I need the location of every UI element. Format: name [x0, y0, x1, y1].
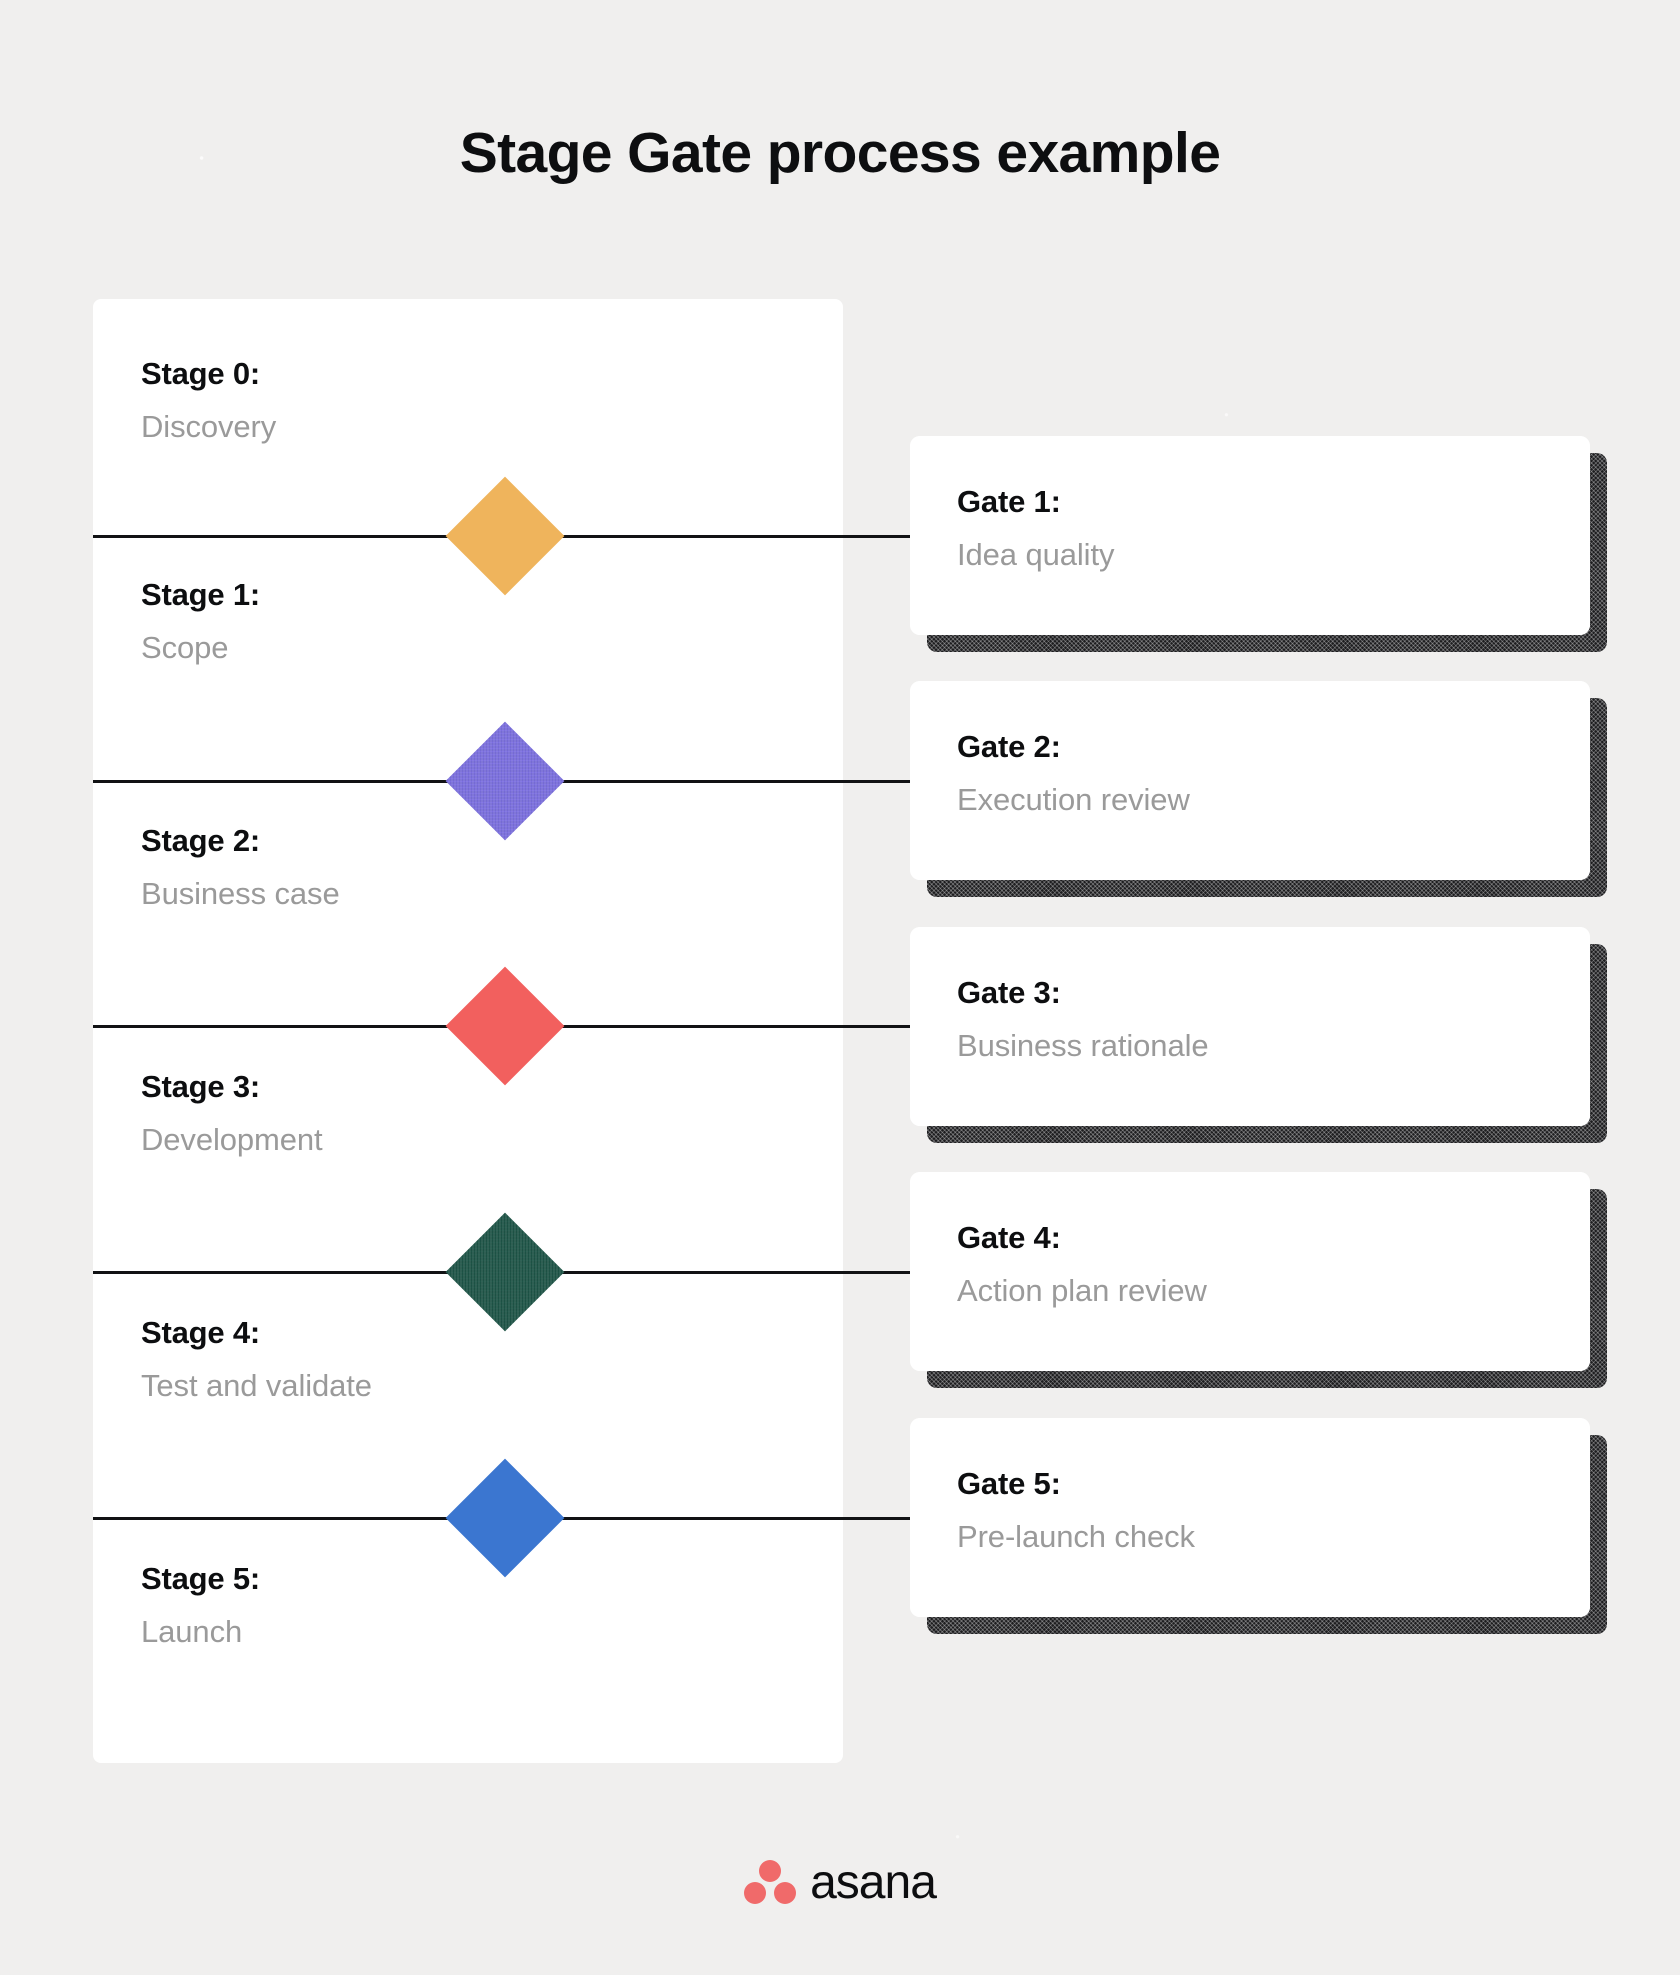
- stage-block-2: Stage 2: Business case: [141, 822, 761, 914]
- stage-title: Stage 4:: [141, 1314, 761, 1353]
- stage-subtitle: Test and validate: [141, 1366, 761, 1406]
- gate-card-inner: Gate 2: Execution review: [910, 681, 1590, 880]
- stage-title: Stage 3:: [141, 1068, 761, 1107]
- gate-card-2[interactable]: Gate 2: Execution review: [910, 681, 1590, 880]
- gate-card-5[interactable]: Gate 5: Pre-launch check: [910, 1418, 1590, 1617]
- stage-title: Stage 1:: [141, 576, 761, 615]
- stage-title: Stage 2:: [141, 822, 761, 861]
- logo-dot-bottom-right: [774, 1882, 796, 1904]
- stage-block-4: Stage 4: Test and validate: [141, 1314, 761, 1406]
- stage-block-3: Stage 3: Development: [141, 1068, 761, 1160]
- gate-subtitle: Idea quality: [957, 535, 1590, 575]
- gate-title: Gate 4:: [957, 1219, 1590, 1258]
- gate-subtitle: Execution review: [957, 780, 1590, 820]
- stage-subtitle: Launch: [141, 1612, 761, 1652]
- asana-wordmark: asana: [810, 1855, 936, 1910]
- asana-dots-logo-icon: [744, 1860, 796, 1906]
- logo-dot-bottom-left: [744, 1882, 766, 1904]
- gate-title: Gate 2:: [957, 728, 1590, 767]
- stage-block-0: Stage 0: Discovery: [141, 355, 761, 447]
- gate-card-1[interactable]: Gate 1: Idea quality: [910, 436, 1590, 635]
- stage-block-1: Stage 1: Scope: [141, 576, 761, 668]
- gate-card-inner: Gate 5: Pre-launch check: [910, 1418, 1590, 1617]
- gate-card-inner: Gate 1: Idea quality: [910, 436, 1590, 635]
- gate-subtitle: Action plan review: [957, 1271, 1590, 1311]
- logo-dot-top: [759, 1860, 781, 1882]
- gate-title: Gate 3:: [957, 974, 1590, 1013]
- stage-subtitle: Development: [141, 1120, 761, 1160]
- gate-card-inner: Gate 4: Action plan review: [910, 1172, 1590, 1371]
- gate-subtitle: Business rationale: [957, 1026, 1590, 1066]
- stage-block-5: Stage 5: Launch: [141, 1560, 761, 1652]
- gate-title: Gate 5:: [957, 1465, 1590, 1504]
- page-title: Stage Gate process example: [0, 122, 1680, 185]
- stage-title: Stage 5:: [141, 1560, 761, 1599]
- gate-card-3[interactable]: Gate 3: Business rationale: [910, 927, 1590, 1126]
- asana-brand: asana: [0, 1855, 1680, 1910]
- stage-subtitle: Discovery: [141, 407, 761, 447]
- gate-card-inner: Gate 3: Business rationale: [910, 927, 1590, 1126]
- stage-title: Stage 0:: [141, 355, 761, 394]
- gate-title: Gate 1:: [957, 483, 1590, 522]
- stage-subtitle: Scope: [141, 628, 761, 668]
- gate-subtitle: Pre-launch check: [957, 1517, 1590, 1557]
- gate-card-4[interactable]: Gate 4: Action plan review: [910, 1172, 1590, 1371]
- stage-subtitle: Business case: [141, 874, 761, 914]
